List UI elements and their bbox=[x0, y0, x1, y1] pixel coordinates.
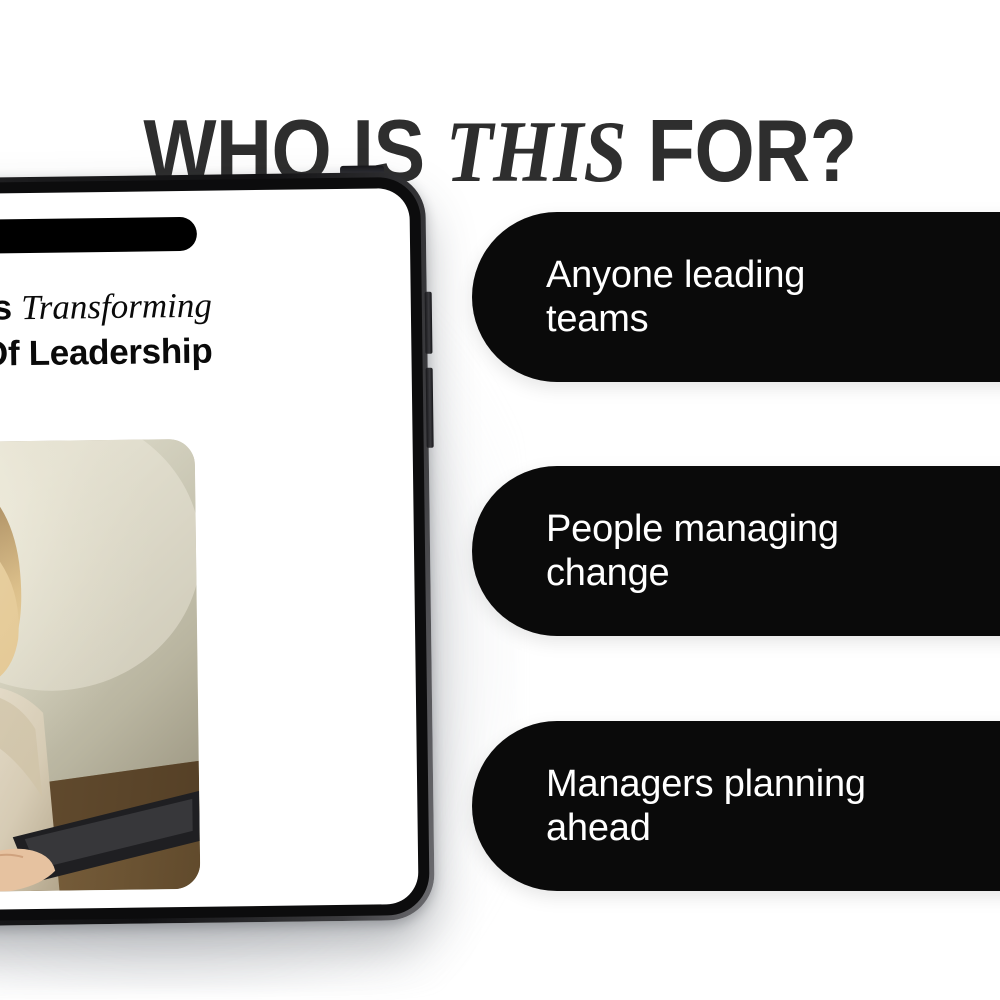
article-headline-line1-italic: Transforming bbox=[21, 286, 212, 327]
article-headline-line2-plain: Of Leadership bbox=[0, 332, 213, 374]
page-title-emphasis: THIS bbox=[446, 104, 627, 201]
audience-pill-2[interactable]: People managing change bbox=[472, 466, 1000, 636]
audience-pill-2-label: People managing change bbox=[472, 507, 906, 595]
screen-topbar bbox=[0, 217, 197, 257]
page-title-part2: FOR? bbox=[627, 101, 857, 200]
device-screen: w AI Is TransformingRole Of Leadership bbox=[0, 188, 419, 912]
volume-down-button[interactable] bbox=[426, 368, 434, 448]
article-headline-line1-plain: w AI Is bbox=[0, 288, 21, 329]
audience-pill-1[interactable]: Anyone leading teams bbox=[472, 212, 1000, 382]
article-photo bbox=[0, 439, 200, 895]
audience-pill-1-label: Anyone leading teams bbox=[472, 253, 906, 341]
tablet-mockup: w AI Is TransformingRole Of Leadership bbox=[0, 172, 435, 928]
article-headline: w AI Is TransformingRole Of Leadership bbox=[0, 283, 213, 383]
audience-pill-3-label: Managers planning ahead bbox=[472, 762, 906, 850]
volume-up-button[interactable] bbox=[425, 292, 433, 354]
audience-pill-3[interactable]: Managers planning ahead bbox=[472, 721, 1000, 891]
